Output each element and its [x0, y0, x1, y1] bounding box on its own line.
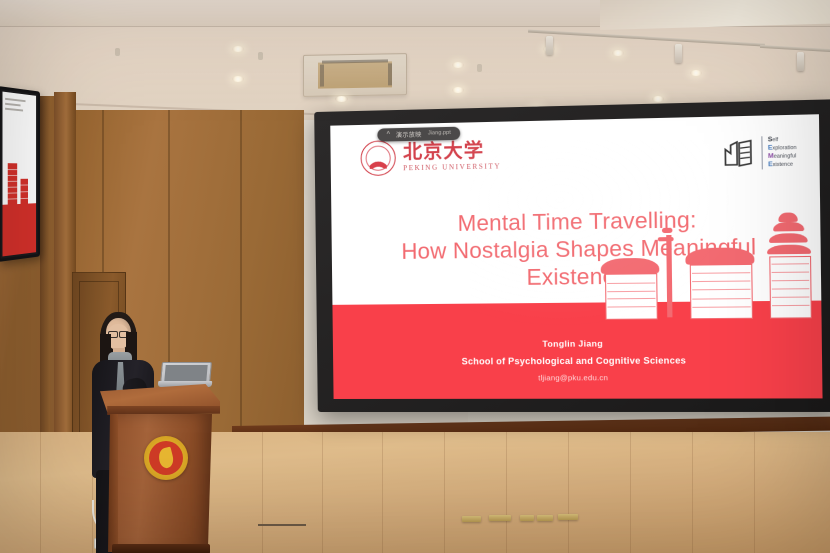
presentation-slide: 北京大学 PEKING UNIVERSITY Self: [330, 114, 822, 399]
seme-monogram-icon: [723, 140, 755, 168]
downlight-icon: [335, 96, 348, 102]
projected-slide-area: 北京大学 PEKING UNIVERSITY Self: [330, 114, 822, 399]
track-spotlight-icon: [797, 52, 804, 71]
track-spotlight-icon: [675, 44, 682, 63]
floor-outlet-box[interactable]: [520, 515, 534, 521]
presentation-filename: Jiang.ppt: [428, 130, 451, 137]
wall-digital-poster[interactable]: [0, 86, 40, 262]
slide-byline: Tonglin Jiang School of Psychological an…: [333, 337, 822, 383]
podium-lip: [100, 406, 220, 415]
floor-outlet-box[interactable]: [462, 516, 481, 522]
lecture-hall-photo: 北京大学 PEKING UNIVERSITY Self: [0, 0, 830, 553]
downlight-icon: [232, 76, 244, 82]
downlight-icon: [652, 96, 664, 102]
floor-cable: [258, 524, 306, 536]
seme-line: Existence: [768, 160, 797, 169]
pku-english-name: PEKING UNIVERSITY: [403, 163, 501, 173]
seme-logo: Self Exploration Meaningful Existence: [723, 136, 797, 170]
floor-outlet-box[interactable]: [537, 515, 553, 521]
poster-text-line: [5, 108, 23, 112]
downlight-icon: [612, 50, 624, 56]
light-track: [645, 36, 765, 46]
downlight-icon: [452, 87, 464, 93]
left-wall-pilaster: [40, 96, 50, 448]
presentation-toolbar[interactable]: ^ 演示放映 Jiang.ppt: [377, 126, 460, 141]
presenter-affiliation: School of Psychological and Cognitive Sc…: [333, 354, 822, 366]
eyeglasses-icon: [108, 331, 128, 336]
ac-vent-slot: [388, 63, 392, 85]
ceiling-sensor-icon: [258, 52, 263, 60]
floor-outlet-box[interactable]: [489, 515, 511, 521]
downlight-icon: [690, 70, 702, 76]
podium-base: [112, 544, 210, 553]
poster-text-line: [5, 98, 25, 102]
pku-logo: 北京大学 PEKING UNIVERSITY: [361, 138, 502, 176]
downlight-icon: [452, 62, 464, 68]
seme-wordmark: Self Exploration Meaningful Existence: [761, 136, 796, 169]
chevron-up-icon[interactable]: ^: [387, 131, 390, 138]
poster-red-band: [2, 203, 36, 256]
ac-vent-icon: [303, 53, 407, 97]
wood-panel-seam: [240, 110, 242, 440]
podium-emblem-flame: [157, 447, 175, 470]
poster-text-line: [5, 103, 20, 107]
podium: [100, 384, 220, 552]
track-spotlight-icon: [546, 36, 553, 55]
pku-chinese-name: 北京大学: [403, 141, 501, 162]
ceiling-sensor-icon: [477, 64, 482, 72]
presenter-email: tljiang@pku.edu.cn: [333, 372, 822, 383]
presentation-mode-label: 演示放映: [396, 129, 422, 139]
podium-front-panel: [108, 414, 212, 552]
slide-title-line-2: How Nostalgia Shapes Meaningful: [369, 234, 790, 267]
ac-vent-slot: [320, 65, 324, 87]
poster-tower-graphic: [8, 163, 17, 208]
projection-screen: 北京大学 PEKING UNIVERSITY Self: [314, 99, 830, 412]
pku-seal-icon: [361, 141, 397, 177]
podium-side-panel: [108, 414, 118, 552]
downlight-icon: [232, 46, 244, 52]
slide-title-line-3: Existence: [370, 261, 791, 293]
podium-emblem-icon: [144, 436, 188, 480]
slide-title: Mental Time Travelling: How Nostalgia Sh…: [369, 206, 791, 294]
poster-tower-graphic: [21, 179, 28, 208]
poster-screen: [2, 92, 36, 257]
ceiling-sensor-icon: [115, 48, 120, 56]
laptop-display: [164, 365, 207, 381]
floor-outlet-box[interactable]: [558, 514, 578, 520]
light-track: [760, 45, 830, 52]
ac-vent-grille: [318, 61, 392, 88]
presenter-name: Tonglin Jiang: [333, 337, 822, 350]
